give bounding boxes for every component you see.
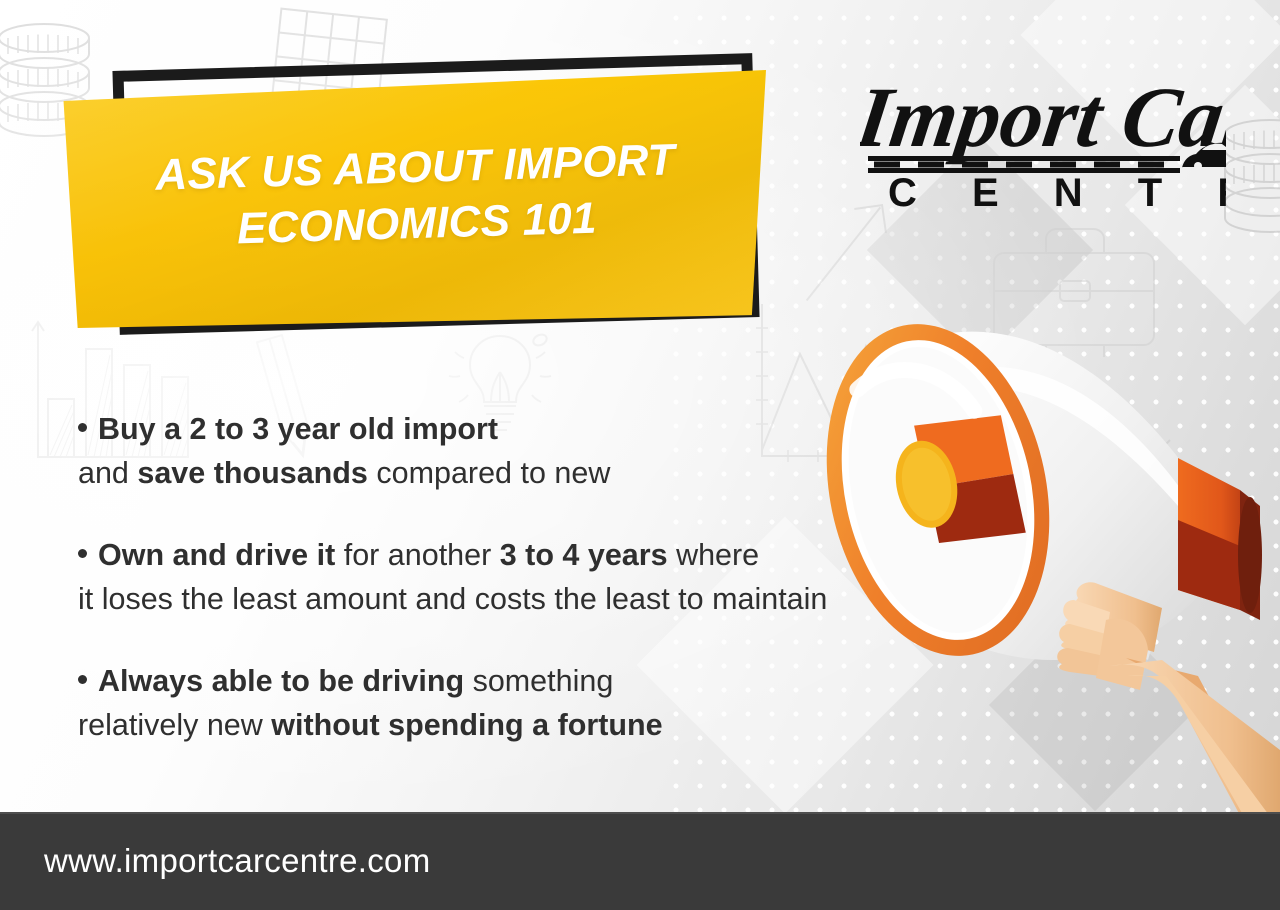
brand-logo: Import Car (860, 58, 1226, 208)
bullet-2-line1-mid: for another (335, 538, 499, 572)
bullet-2-line1-bold2: 3 to 4 years (500, 538, 668, 572)
bullet-3-line2-bold: without spending a fortune (271, 708, 662, 742)
bullet-2-line2: it loses the least amount and costs the … (78, 582, 827, 616)
megaphone-illustration (810, 190, 1280, 830)
logo-script-text: Import Car (860, 69, 1226, 165)
website-url[interactable]: www.importcarcentre.com (44, 842, 431, 880)
page-title: ASK US ABOUT IMPORT ECONOMICS 101 (94, 131, 737, 263)
bullet-3-line1-bold: Always able to be driving (98, 664, 464, 698)
bullet-marker (78, 423, 87, 432)
promo-poster: ASK US ABOUT IMPORT ECONOMICS 101 Import… (0, 0, 1280, 910)
footer-bar: www.importcarcentre.com (0, 812, 1280, 910)
bullet-1-line2-pre: and (78, 456, 137, 490)
bullet-2-line1-post: where (668, 538, 760, 572)
bullet-3-line1-post: something (464, 664, 613, 698)
footer-top-highlight (0, 812, 1280, 814)
bullet-marker (78, 675, 87, 684)
bullet-1-line1-bold: Buy a 2 to 3 year old import (98, 412, 498, 446)
bullet-marker (78, 549, 87, 558)
bullet-1-line2-post: compared to new (368, 456, 610, 490)
bullet-2-line1-bold: Own and drive it (98, 538, 335, 572)
bullet-1-line2-bold: save thousands (137, 456, 368, 490)
bullet-3-line2-pre: relatively new (78, 708, 271, 742)
